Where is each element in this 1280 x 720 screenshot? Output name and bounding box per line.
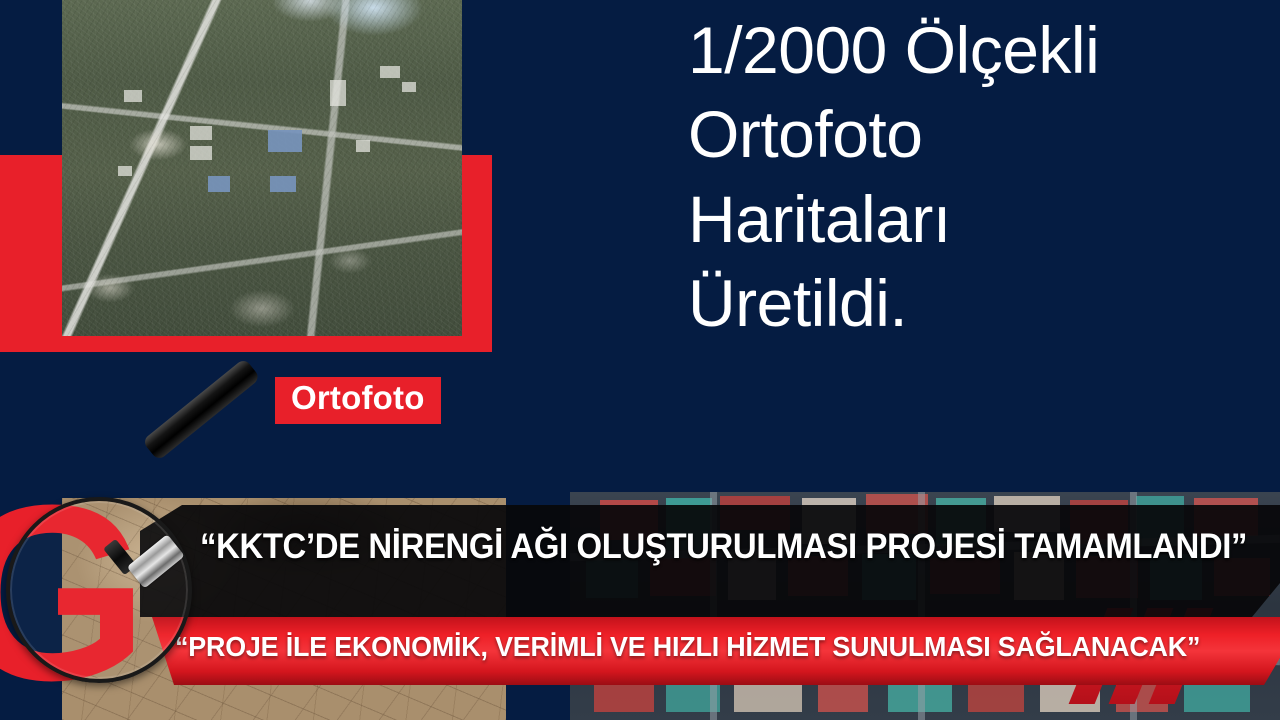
map-building xyxy=(402,82,416,92)
map-building xyxy=(190,126,212,140)
map-building xyxy=(356,140,370,152)
map-building xyxy=(190,146,212,160)
map-building xyxy=(330,80,346,106)
map-building xyxy=(124,90,142,102)
map-pool xyxy=(208,176,230,192)
map-pool xyxy=(268,130,302,152)
page-title-line-3: Haritaları xyxy=(688,177,1248,261)
subheadline: “PROJE İLE EKONOMİK, VERİMLİ VE HIZLI Hİ… xyxy=(175,631,1200,663)
ortofoto-satellite-image xyxy=(62,0,462,336)
magnifier-lens-icon xyxy=(6,497,192,683)
page-title-line-1: 1/2000 Ölçekli xyxy=(688,8,1248,92)
map-building xyxy=(380,66,400,78)
magnifier-handle-icon xyxy=(142,358,261,461)
ortofoto-tag: Ortofoto xyxy=(275,377,441,424)
map-building xyxy=(118,166,132,176)
headline: “KKTC’DE NİRENGİ AĞI OLUŞTURULMASI PROJE… xyxy=(200,527,1215,567)
news-banner-image: Ortofoto 1/2000 Ölçekli Ortofoto Harital… xyxy=(0,0,1280,720)
page-title: 1/2000 Ölçekli Ortofoto Haritaları Üreti… xyxy=(688,8,1248,346)
page-title-line-2: Ortofoto xyxy=(688,92,1248,176)
map-pool xyxy=(270,176,296,192)
page-title-line-4: Üretildi. xyxy=(688,261,1248,345)
